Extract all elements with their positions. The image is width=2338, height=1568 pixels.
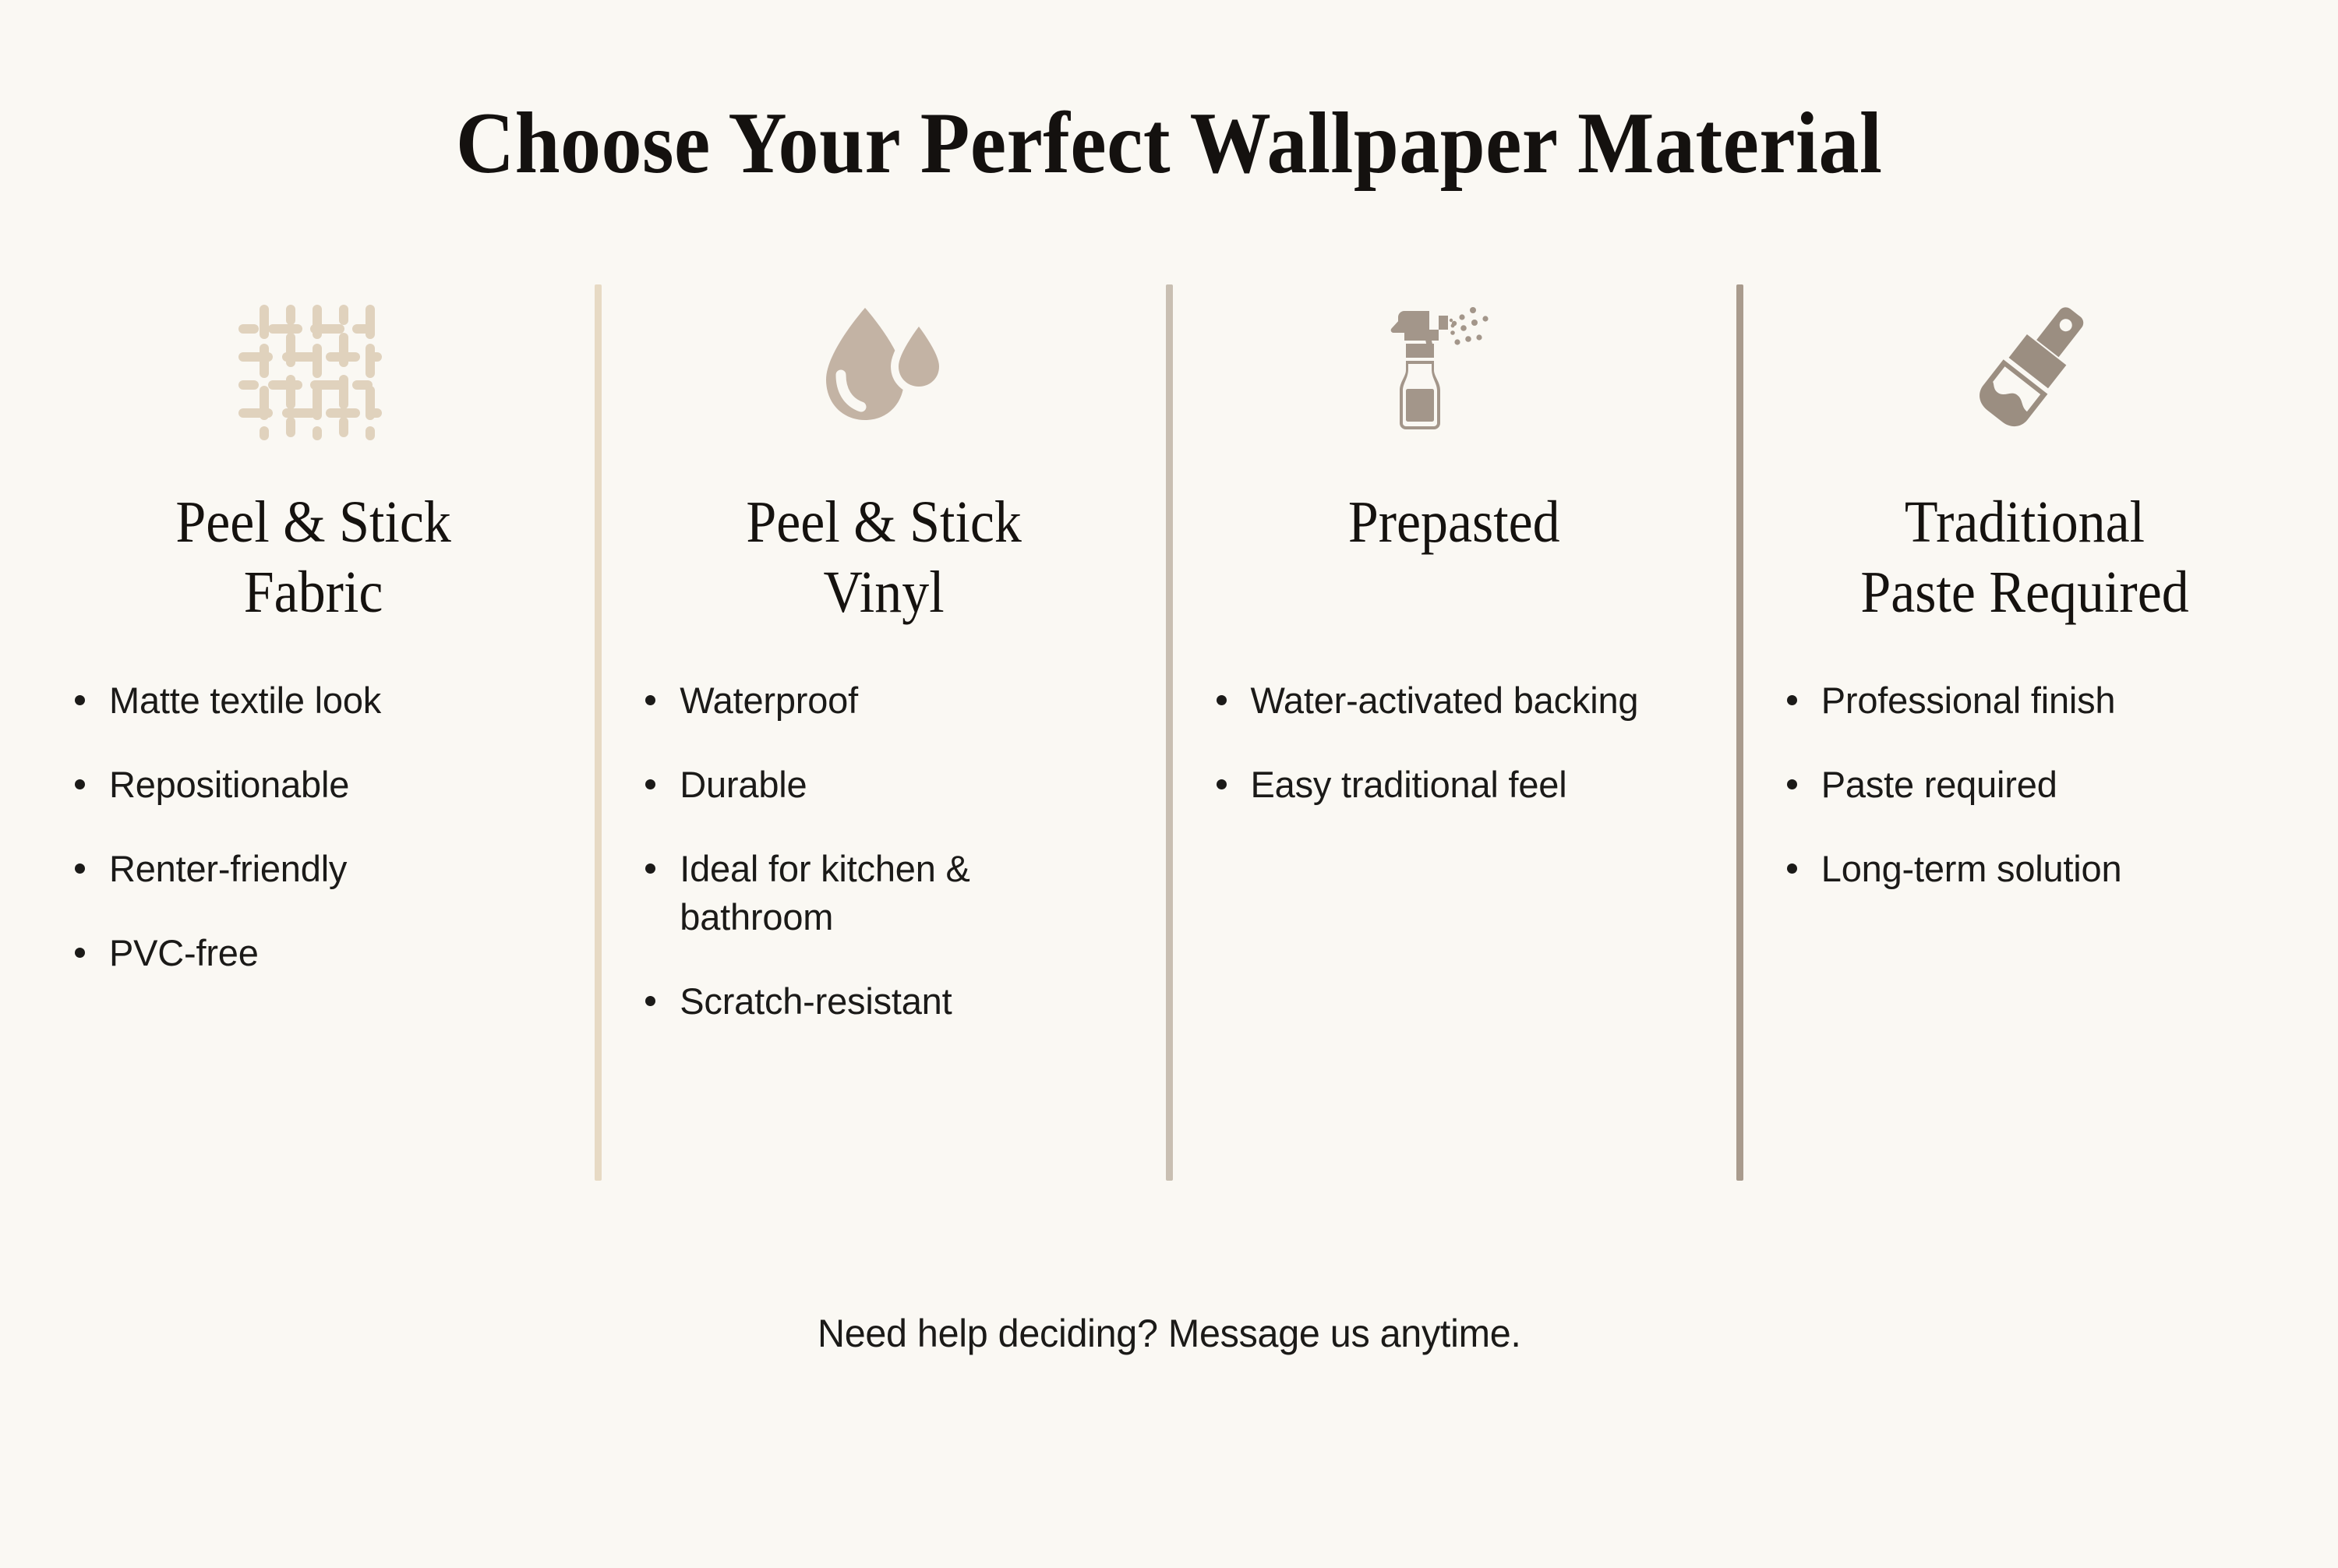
list-item: Durable — [639, 761, 1128, 809]
column-heading: Traditional Paste Required — [1861, 488, 2189, 644]
material-columns: Peel & Stick Fabric Matte textile look R… — [0, 257, 2338, 1263]
footer-area: Need help deciding? Message us anytime. — [0, 1263, 2338, 1568]
list-item: Ideal for kitchen & bathroom — [639, 845, 1128, 941]
list-item: Long-term solution — [1781, 845, 2269, 893]
column-traditional-paste: Traditional Paste Required Professional … — [1743, 257, 2307, 1263]
feature-list: Water-activated backing Easy traditional… — [1210, 676, 1699, 845]
paintbrush-icon — [1781, 257, 2269, 483]
list-item: Easy traditional feel — [1210, 761, 1699, 809]
list-item: PVC-free — [69, 929, 557, 977]
list-item: Repositionable — [69, 761, 557, 809]
column-divider-3 — [1736, 284, 1743, 1181]
feature-list: Professional finish Paste required Long-… — [1781, 676, 2269, 929]
list-item: Paste required — [1781, 761, 2269, 809]
water-droplet-icon — [639, 257, 1128, 483]
column-divider-2 — [1166, 284, 1173, 1181]
list-item: Waterproof — [639, 676, 1128, 725]
column-peel-stick-fabric: Peel & Stick Fabric Matte textile look R… — [31, 257, 595, 1263]
column-peel-stick-vinyl: Peel & Stick Vinyl Waterproof Durable Id… — [602, 257, 1165, 1263]
feature-list: Matte textile look Repositionable Renter… — [69, 676, 557, 1013]
fabric-weave-icon — [69, 257, 557, 483]
column-heading-line2: Paste Required — [1861, 558, 2189, 628]
list-item: Scratch-resistant — [639, 977, 1128, 1026]
list-item: Water-activated backing — [1210, 676, 1699, 725]
column-heading: Peel & Stick Fabric — [175, 488, 450, 644]
column-heading-line2: Vinyl — [746, 558, 1021, 628]
column-heading-line1: Peel & Stick — [175, 488, 450, 558]
column-heading: Prepasted — [1348, 488, 1560, 644]
column-heading-line1: Prepasted — [1348, 488, 1560, 558]
list-item: Renter-friendly — [69, 845, 557, 893]
list-item: Professional finish — [1781, 676, 2269, 725]
feature-list: Waterproof Durable Ideal for kitchen & b… — [639, 676, 1128, 1061]
column-heading-line1: Peel & Stick — [746, 488, 1021, 558]
footer-note: Need help deciding? Message us anytime. — [818, 1311, 1521, 1356]
column-heading: Peel & Stick Vinyl — [746, 488, 1021, 644]
infographic-page: Choose Your Perfect Wallpaper Material — [0, 0, 2338, 1568]
list-item: Matte textile look — [69, 676, 557, 725]
column-divider-1 — [595, 284, 602, 1181]
column-heading-line1: Traditional — [1861, 488, 2189, 558]
column-heading-line2: Fabric — [175, 558, 450, 628]
spray-bottle-icon — [1210, 257, 1699, 483]
page-title: Choose Your Perfect Wallpaper Material — [456, 98, 1883, 190]
title-area: Choose Your Perfect Wallpaper Material — [0, 0, 2338, 257]
column-prepasted: Prepasted Water-activated backing Easy t… — [1173, 257, 1736, 1263]
